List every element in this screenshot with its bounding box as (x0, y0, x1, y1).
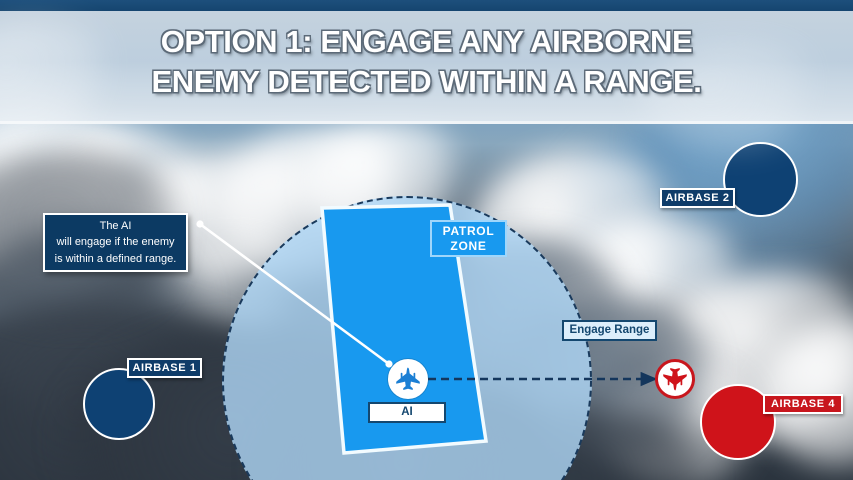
airbase-4-label[interactable]: AIRBASE 4 (763, 394, 843, 414)
slide-canvas: The AI will engage if the enemy is withi… (0, 0, 853, 480)
page-title: OPTION 1: ENGAGE ANY AIRBORNE ENEMY DETE… (0, 22, 853, 101)
ai-explanation-callout: The AI will engage if the enemy is withi… (43, 213, 188, 272)
ai-unit-label[interactable]: AI (368, 402, 446, 423)
enemy-aircraft-marker[interactable] (655, 359, 695, 399)
patrol-zone-label[interactable]: PATROL ZONE (430, 220, 507, 257)
fighter-jet-icon (395, 366, 421, 392)
ai-aircraft-marker[interactable] (388, 359, 428, 399)
airbase-2-label[interactable]: AIRBASE 2 (660, 188, 735, 208)
airbase-1-label[interactable]: AIRBASE 1 (127, 358, 202, 378)
airbase-1-marker[interactable] (83, 368, 155, 440)
engage-range-label[interactable]: Engage Range (562, 320, 657, 341)
top-accent-rule (0, 0, 853, 11)
enemy-fighter-jet-icon (662, 366, 688, 392)
